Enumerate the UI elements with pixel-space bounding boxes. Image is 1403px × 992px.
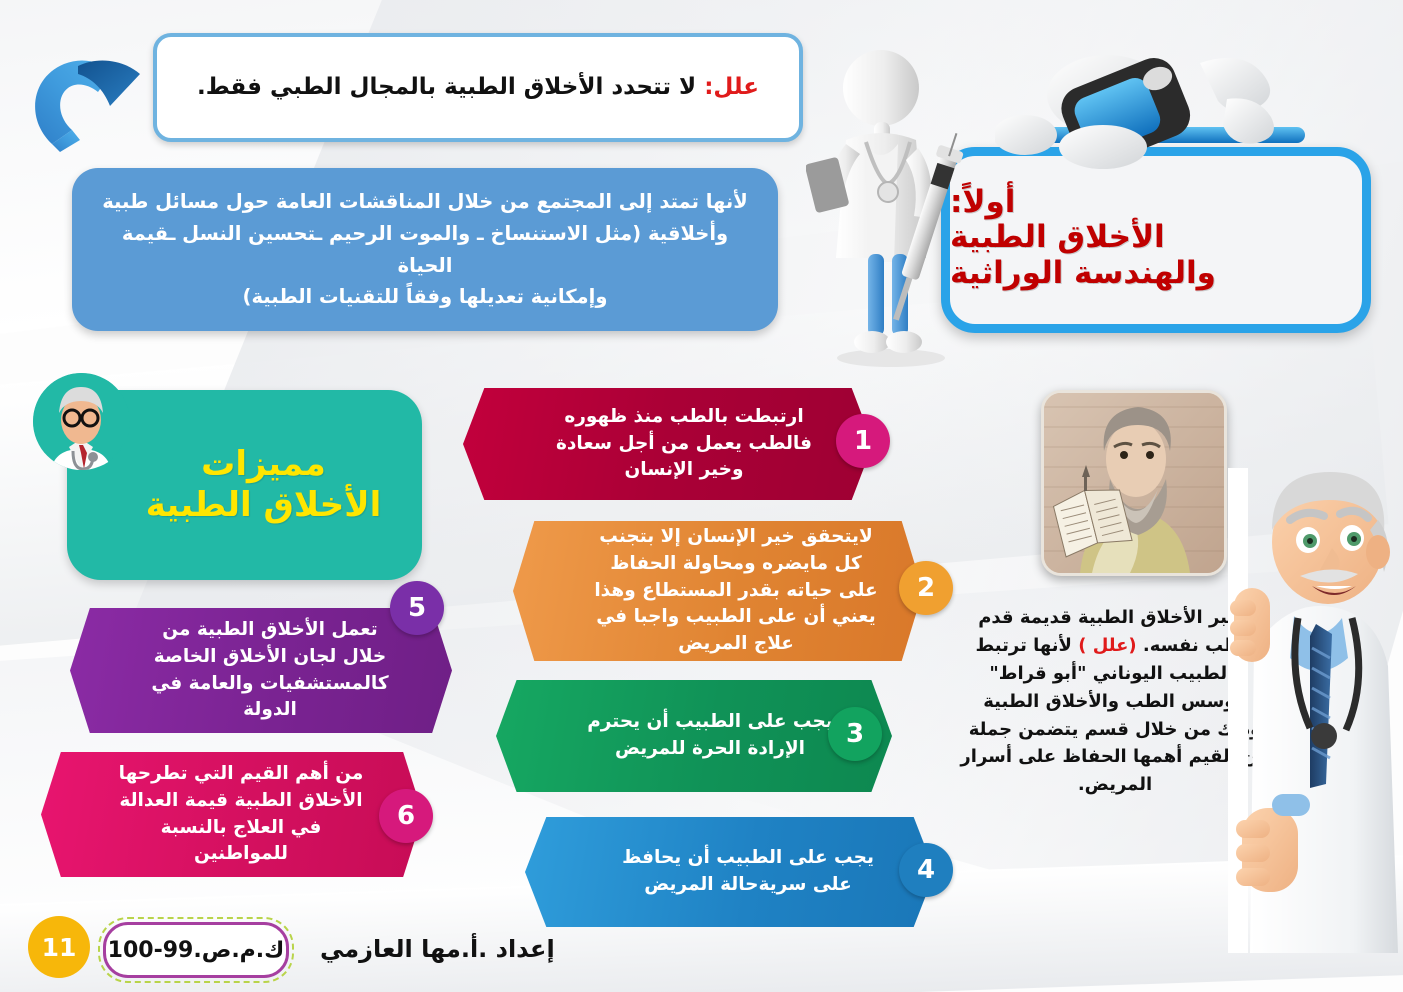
hippocrates-portrait [1041, 390, 1227, 576]
page-number-badge: 11 [28, 916, 90, 978]
banner-1-text: ارتبطت بالطب منذ ظهوره فالطب يعمل من أجل… [463, 404, 873, 484]
answer-box: لأنها تمتد إلى المجتمع من خلال المناقشات… [72, 168, 778, 331]
answer-line-1: لأنها تمتد إلى المجتمع من خلال المناقشات… [102, 190, 748, 213]
banner-1: ارتبطت بالطب منذ ظهوره فالطب يعمل من أجل… [463, 388, 873, 500]
features-line-2: الأخلاق الطبية [146, 485, 381, 526]
features-line-1: مميزات [201, 444, 326, 485]
banner-5-text: تعمل الأخلاق الطبية من خلال لجان الأخلاق… [70, 617, 452, 724]
right-paragraph-highlight: (علل ) [1078, 635, 1136, 656]
banner-6-text: من أهم القيم التي تطرحها الأخلاق الطبية … [41, 761, 423, 868]
banner-2-text: لايتحقق خير الإنسان إلا بتجنب كل مايضره … [513, 524, 923, 658]
banner-5: تعمل الأخلاق الطبية من خلال لجان الأخلاق… [70, 608, 452, 733]
medical-device-figure-illustration [995, 35, 1305, 180]
title-line-2: الأخلاق الطبية [950, 220, 1165, 256]
answer-line-3: وإمكانية تعديلها وفقاً للتقنيات الطبية) [243, 285, 608, 308]
right-explanation-paragraph: تعتبر الأخلاق الطبية قديمة قدم الطب نفسه… [960, 604, 1270, 799]
title-line-3: والهندسة الوراثية [950, 256, 1216, 292]
question-text: علل: لا تتحدد الأخلاق الطبية بالمجال الط… [197, 72, 759, 103]
answer-text: لأنها تمتد إلى المجتمع من خلال المناقشات… [98, 186, 752, 312]
answer-line-2: وأخلاقية (مثل الاستنساخ ـ والموت الرحيم … [122, 222, 728, 277]
banner-5-number-badge: 5 [390, 581, 444, 635]
banner-2: لايتحقق خير الإنسان إلا بتجنب كل مايضره … [513, 521, 923, 661]
author-credit: إعداد .أ.مها العازمي [320, 935, 555, 963]
question-box: علل: لا تتحدد الأخلاق الطبية بالمجال الط… [153, 33, 803, 142]
banner-4-number-badge: 4 [899, 843, 953, 897]
curved-arrow-icon [18, 48, 153, 158]
right-paragraph-part-2: لأنها ترتبط بالطبيب اليوناني "أبو قراط" … [960, 635, 1269, 795]
doctor-mannequin-illustration [806, 40, 976, 370]
doctor-avatar-icon [33, 373, 130, 470]
banner-1-number-badge: 1 [836, 414, 890, 468]
elderly-doctor-illustration [1228, 468, 1403, 953]
banner-4: يجب على الطبيب أن يحافظ على سريةحالة الم… [525, 817, 935, 927]
question-keyword: علل: [704, 74, 759, 100]
question-body: لا تتحدد الأخلاق الطبية بالمجال الطبي فق… [197, 74, 704, 100]
banner-2-number-badge: 2 [899, 561, 953, 615]
banner-6: من أهم القيم التي تطرحها الأخلاق الطبية … [41, 752, 423, 877]
banner-3-number-badge: 3 [828, 707, 882, 761]
banner-4-text: يجب على الطبيب أن يحافظ على سريةحالة الم… [525, 845, 935, 899]
reference-pill: ك.م.ص.99-100 [103, 922, 289, 978]
banner-6-number-badge: 6 [379, 789, 433, 843]
